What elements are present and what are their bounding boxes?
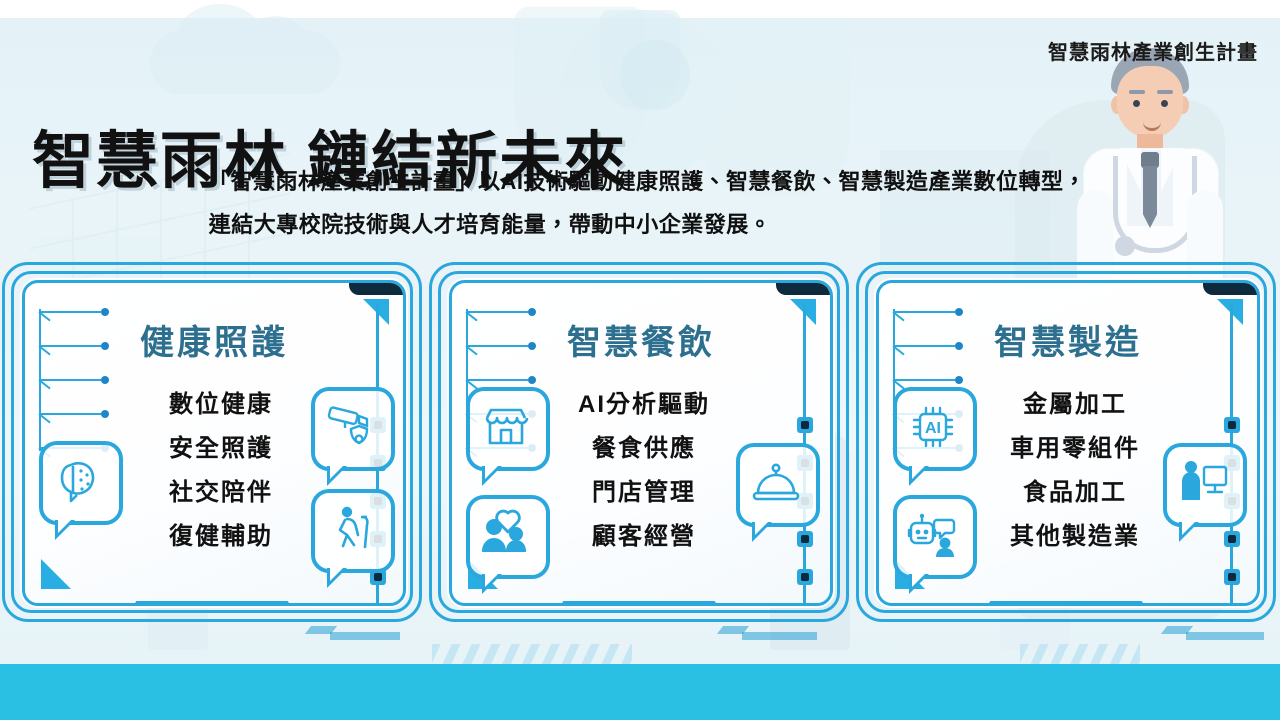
robot-chat-icon [893,495,977,579]
bottom-accent-bar [742,632,817,640]
card-item-list: AI分析驅動 餐食供應 門店管理 顧客經營 [544,383,744,559]
ai-chip-icon: AI [893,387,977,471]
corner-triangle-bl-icon [41,559,71,589]
card-foot-connector [976,601,1156,622]
card-title: 智慧製造 [879,315,1257,364]
worker-monitor-icon [1163,443,1247,527]
subtitle-block: 「智慧雨林產業創生計畫」以AI技術驅動健康照護、智慧餐飲、智慧製造產業數位轉型，… [0,160,1280,246]
card-item-list: 金屬加工 車用零組件 食品加工 其他製造業 [975,383,1175,559]
brand-label: 智慧雨林產業創生計畫 [1048,36,1258,65]
bottom-accent-bar [1186,632,1264,640]
card-foot-connector [549,601,729,622]
card-item-list: 數位健康 安全照護 社交陪伴 復健輔助 [121,383,321,559]
top-white-strip [0,0,1280,18]
svg-text:AI: AI [925,420,941,437]
list-item: 車用零組件 [975,427,1175,471]
card-body: 智慧餐飲 AI分析驅動 餐食供應 門店管理 顧客經營 [449,280,833,606]
card-health-care[interactable]: 健康照護 數位健康 安全照護 社交陪伴 復健輔助 [2,262,420,620]
list-item: 餐食供應 [544,427,744,471]
customers-heart-icon [466,495,550,579]
bottom-stripes [432,644,632,666]
bottom-color-bar [0,664,1280,720]
card-body: 智慧製造 金屬加工 車用零組件 食品加工 其他製造業 AI [876,280,1260,606]
list-item: AI分析驅動 [544,383,744,427]
subtitle-line-2: 連結大專校院技術與人才培育能量，帶動中小企業發展。 [0,203,1280,246]
list-item: 其他製造業 [975,515,1175,559]
storefront-icon [466,387,550,471]
list-item: 門店管理 [544,471,744,515]
list-item: 安全照護 [121,427,321,471]
card-smart-manufacturing[interactable]: 智慧製造 金屬加工 車用零組件 食品加工 其他製造業 AI [856,262,1274,620]
card-title: 智慧餐飲 [452,315,830,364]
list-item: 社交陪伴 [121,471,321,515]
brain-head-icon [39,441,123,525]
card-smart-dining[interactable]: 智慧餐飲 AI分析驅動 餐食供應 門店管理 顧客經營 [429,262,847,620]
elderly-walking-icon [311,489,395,573]
bottom-stripes [1020,644,1140,666]
card-body: 健康照護 數位健康 安全照護 社交陪伴 復健輔助 [22,280,406,606]
card-foot-connector [122,601,302,622]
cctv-shield-icon [311,387,395,471]
bottom-accent-bar [330,632,400,640]
food-cloche-icon [736,443,820,527]
subtitle-line-1: 「智慧雨林產業創生計畫」以AI技術驅動健康照護、智慧餐飲、智慧製造產業數位轉型， [0,160,1280,203]
list-item: 金屬加工 [975,383,1175,427]
card-title: 健康照護 [25,315,403,364]
category-cards: 健康照護 數位健康 安全照護 社交陪伴 復健輔助 [0,262,1280,620]
slide-canvas: 智慧雨林產業創生計畫 智慧雨林 鏈結新未來 「智慧雨林產業創生計畫」以AI技術驅… [0,0,1280,720]
list-item: 顧客經營 [544,515,744,559]
corner-notch [776,281,832,295]
list-item: 復健輔助 [121,515,321,559]
corner-notch [1203,281,1259,295]
list-item: 食品加工 [975,471,1175,515]
list-item: 數位健康 [121,383,321,427]
corner-notch [349,281,405,295]
